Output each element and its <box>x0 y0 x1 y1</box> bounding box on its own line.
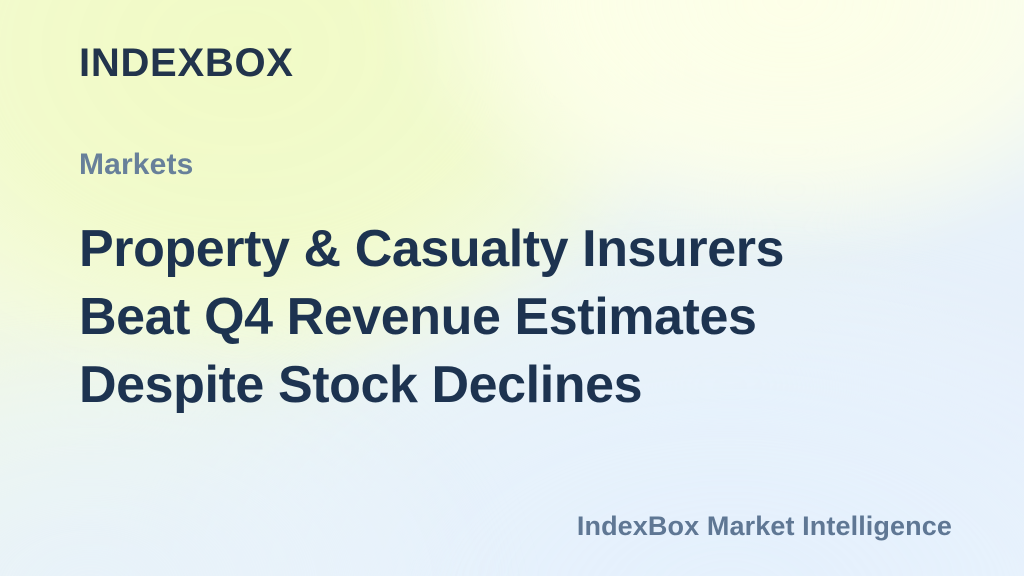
page-title: Property & Casualty Insurers Beat Q4 Rev… <box>79 215 959 419</box>
headline-line-1: Property & Casualty Insurers <box>79 215 959 283</box>
headline-line-3: Despite Stock Declines <box>79 351 959 419</box>
card-content: INDEXBOX Markets Property & Casualty Ins… <box>0 0 1024 576</box>
footer-attribution: IndexBox Market Intelligence <box>577 510 952 542</box>
category-label: Markets <box>79 150 193 180</box>
brand-wordmark: INDEXBOX <box>79 43 294 83</box>
article-card: INDEXBOX Markets Property & Casualty Ins… <box>0 0 1024 576</box>
headline-line-2: Beat Q4 Revenue Estimates <box>79 283 959 351</box>
